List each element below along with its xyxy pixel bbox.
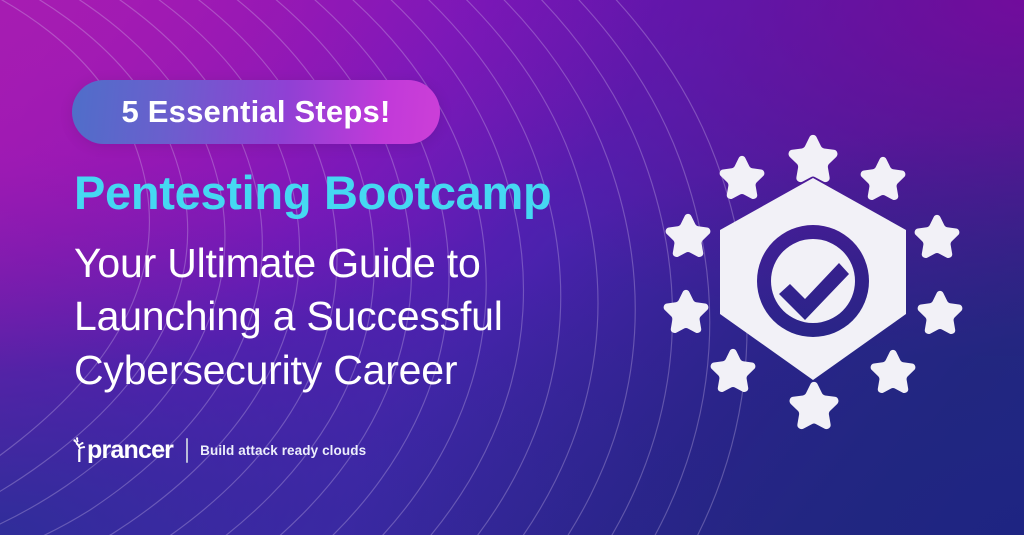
shield-shape — [648, 118, 978, 448]
shield-check-badge — [648, 118, 978, 448]
brand-tagline: Build attack ready clouds — [200, 443, 366, 458]
subtitle-line-1: Your Ultimate Guide to — [74, 237, 634, 290]
subtitle-line-3: Cybersecurity Career — [74, 344, 634, 397]
subtitle: Your Ultimate Guide to Launching a Succe… — [74, 237, 634, 397]
subtitle-line-2: Launching a Successful — [74, 290, 634, 343]
steps-badge-label: 5 Essential Steps! — [122, 94, 391, 130]
page-title: Pentesting Bootcamp — [74, 165, 551, 220]
brand-wordmark: prancer — [87, 438, 173, 463]
brand-logo-lockup: prancer Build attack ready clouds — [72, 436, 366, 464]
prancer-antler-icon — [72, 437, 86, 463]
logo-divider — [186, 438, 188, 463]
promo-banner: 5 Essential Steps! Pentesting Bootcamp Y… — [0, 0, 1024, 535]
steps-badge-pill: 5 Essential Steps! — [72, 80, 440, 144]
